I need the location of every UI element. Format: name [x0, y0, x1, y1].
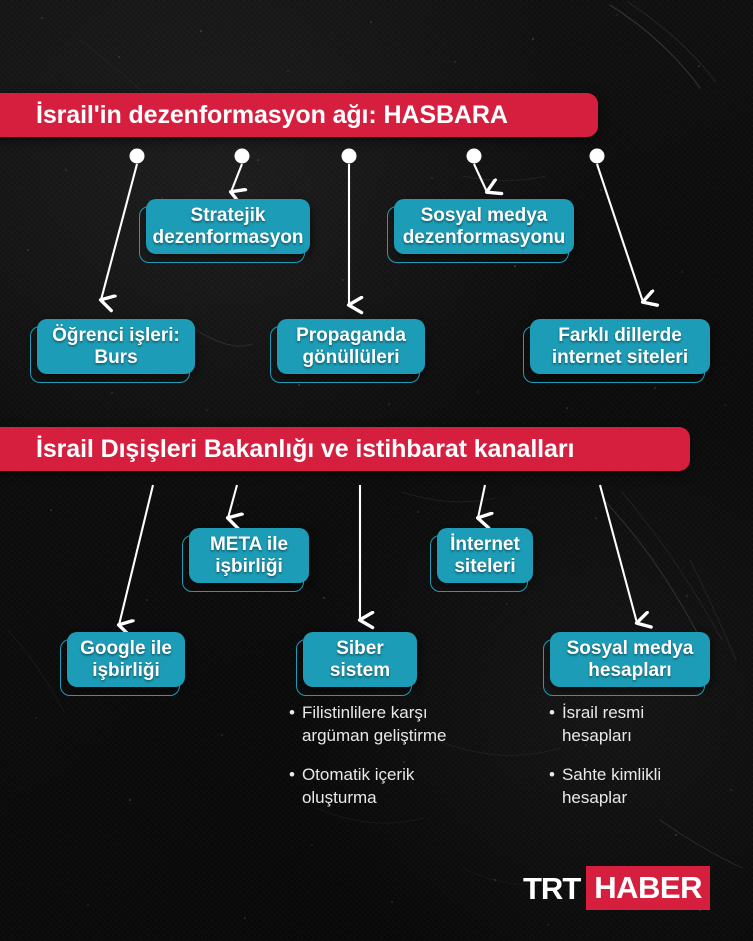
logo-trt-text: TRT [523, 873, 580, 904]
bullet-line-1: Otomatik içerik [302, 765, 414, 784]
node-line-2: dezenformasyon [153, 227, 304, 248]
node-internet-siteleri[interactable]: İnternet siteleri [437, 528, 533, 583]
node-label: Propaganda gönüllüleri [286, 325, 416, 368]
node-line-2: gönüllüleri [302, 347, 399, 368]
bullet-marker: • [289, 764, 295, 809]
node-label: Öğrenci işleri: Burs [42, 325, 190, 368]
bullet-line-1: Filistinlilere karşı [302, 703, 428, 722]
list-item: • Sahte kimlikli hesaplar [549, 764, 749, 809]
bullet-line-2: argüman geliştirme [302, 726, 447, 745]
bullet-line-2: oluşturma [302, 788, 377, 807]
trt-haber-logo: TRT HABER [523, 866, 710, 910]
bullet-list-siber-sistem: • Filistinlilere karşı argüman geliştirm… [289, 702, 519, 826]
node-line-1: Propaganda [296, 325, 406, 346]
node-line-2: işbirliği [215, 556, 283, 577]
bullet-marker: • [549, 702, 555, 747]
banner-title-1: İsrail'in dezenformasyon ağı: HASBARA [0, 103, 508, 128]
infographic-canvas: İsrail'in dezenformasyon ağı: HASBARA St… [0, 0, 753, 941]
node-line-1: Stratejik [191, 205, 266, 226]
node-label: Sosyal medya hesapları [557, 638, 704, 681]
banner-title-2: İsrail Dışişleri Bakanlığı ve istihbarat… [0, 437, 574, 462]
node-google-ile-isbirligi[interactable]: Google ile işbirliği [67, 632, 185, 687]
bullet-line-1: İsrail resmi [562, 703, 644, 722]
node-line-2: sistem [330, 660, 390, 681]
node-line-1: İnternet [450, 534, 520, 555]
node-farkli-dillerde-internet-siteleri[interactable]: Farklı dillerde internet siteleri [530, 319, 710, 374]
node-sosyal-medya-dezenformasyonu[interactable]: Sosyal medya dezenformasyonu [394, 199, 574, 254]
logo-haber-text: HABER [586, 866, 710, 910]
bullet-list-sosyal-medya-hesaplari: • İsrail resmi hesapları • Sahte kimlikl… [549, 702, 749, 826]
node-line-1: Öğrenci işleri: [52, 325, 180, 346]
section-banner-hasbara: İsrail'in dezenformasyon ağı: HASBARA [0, 93, 598, 137]
bullet-marker: • [549, 764, 555, 809]
bullet-line-1: Sahte kimlikli [562, 765, 661, 784]
node-line-2: hesapları [588, 660, 671, 681]
list-item: • Otomatik içerik oluşturma [289, 764, 519, 809]
list-item: • İsrail resmi hesapları [549, 702, 749, 747]
bullet-text: İsrail resmi hesapları [562, 702, 644, 747]
node-line-2: siteleri [454, 556, 515, 577]
node-line-2: işbirliği [92, 660, 160, 681]
bullet-text: Sahte kimlikli hesaplar [562, 764, 661, 809]
node-ogrenci-isleri-burs[interactable]: Öğrenci işleri: Burs [37, 319, 195, 374]
bullet-marker: • [289, 702, 295, 747]
node-line-1: Sosyal medya [567, 638, 694, 659]
node-label: Farklı dillerde internet siteleri [542, 325, 698, 368]
node-line-1: Google ile [80, 638, 172, 659]
node-label: Stratejik dezenformasyon [143, 205, 314, 248]
node-siber-sistem[interactable]: Siber sistem [303, 632, 417, 687]
node-line-2: Burs [94, 347, 137, 368]
bullet-text: Otomatik içerik oluşturma [302, 764, 414, 809]
section-banner-disisleri: İsrail Dışişleri Bakanlığı ve istihbarat… [0, 427, 690, 471]
node-label: Siber sistem [320, 638, 400, 681]
node-meta-ile-isbirligi[interactable]: META ile işbirliği [189, 528, 309, 583]
node-line-1: Sosyal medya [421, 205, 548, 226]
node-stratejik-dezenformasyon[interactable]: Stratejik dezenformasyon [146, 199, 310, 254]
node-line-2: dezenformasyonu [403, 227, 566, 248]
bullet-line-2: hesaplar [562, 788, 627, 807]
list-item: • Filistinlilere karşı argüman geliştirm… [289, 702, 519, 747]
node-label: META ile işbirliği [200, 534, 298, 577]
node-line-1: META ile [210, 534, 288, 555]
node-label: İnternet siteleri [440, 534, 530, 577]
node-sosyal-medya-hesaplari[interactable]: Sosyal medya hesapları [550, 632, 710, 687]
bullet-text: Filistinlilere karşı argüman geliştirme [302, 702, 447, 747]
node-label: Sosyal medya dezenformasyonu [393, 205, 576, 248]
bullet-line-2: hesapları [562, 726, 632, 745]
node-line-1: Siber [336, 638, 384, 659]
node-propaganda-gonulluleri[interactable]: Propaganda gönüllüleri [277, 319, 425, 374]
node-line-2: internet siteleri [552, 347, 688, 368]
node-label: Google ile işbirliği [70, 638, 182, 681]
node-line-1: Farklı dillerde [558, 325, 682, 346]
